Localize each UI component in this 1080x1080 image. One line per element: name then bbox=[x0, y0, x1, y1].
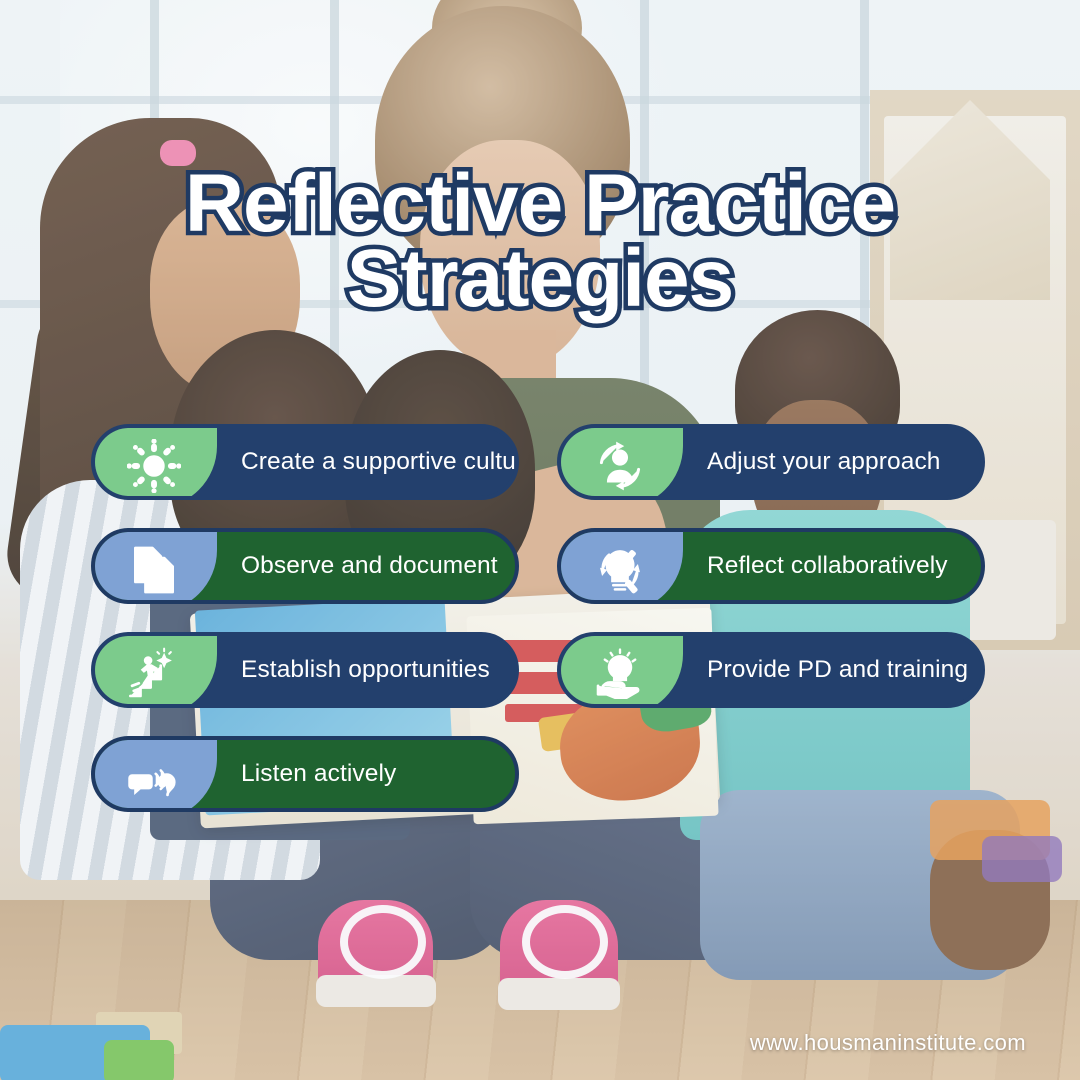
strategy-item-create-supportive-culture[interactable]: Create a supportive culture bbox=[91, 424, 519, 500]
strategy-item-reflect-collaboratively[interactable]: Reflect collaboratively bbox=[557, 528, 985, 604]
strategy-label: Reflect collaboratively bbox=[707, 552, 948, 580]
strategy-item-listen-actively[interactable]: Listen actively bbox=[91, 736, 519, 812]
collaboration-circle-icon bbox=[91, 424, 217, 500]
strategy-row-3: Establish opportunities bbox=[0, 632, 1080, 708]
strategy-row-1: Create a supportive culture bbox=[0, 424, 1080, 500]
infographic-poster: Reflective Practice Strategies bbox=[0, 0, 1080, 1080]
strategy-item-adjust-your-approach[interactable]: Adjust your approach bbox=[557, 424, 985, 500]
strategy-label: Listen actively bbox=[241, 760, 396, 788]
strategy-label: Provide PD and training bbox=[707, 656, 968, 684]
strategy-list: Create a supportive culture bbox=[0, 424, 1080, 840]
speech-ear-icon bbox=[91, 736, 217, 812]
lightbulb-gear-arrows-icon bbox=[557, 528, 683, 604]
strategy-label: Observe and document bbox=[241, 552, 498, 580]
person-stairs-star-icon bbox=[91, 632, 217, 708]
strategy-label: Create a supportive culture bbox=[241, 448, 519, 476]
document-pages-icon bbox=[91, 528, 217, 604]
strategy-label: Adjust your approach bbox=[707, 448, 941, 476]
website-url[interactable]: www.housmaninstitute.com bbox=[750, 1030, 1026, 1056]
strategy-item-observe-and-document[interactable]: Observe and document bbox=[91, 528, 519, 604]
strategy-item-establish-opportunities[interactable]: Establish opportunities bbox=[91, 632, 519, 708]
strategy-label: Establish opportunities bbox=[241, 656, 490, 684]
strategy-row-2: Observe and document bbox=[0, 528, 1080, 604]
strategy-row-4: Listen actively bbox=[0, 736, 1080, 812]
person-refresh-icon bbox=[557, 424, 683, 500]
hand-lightbulb-gear-icon bbox=[557, 632, 683, 708]
strategy-item-provide-pd-and-training[interactable]: Provide PD and training bbox=[557, 632, 985, 708]
